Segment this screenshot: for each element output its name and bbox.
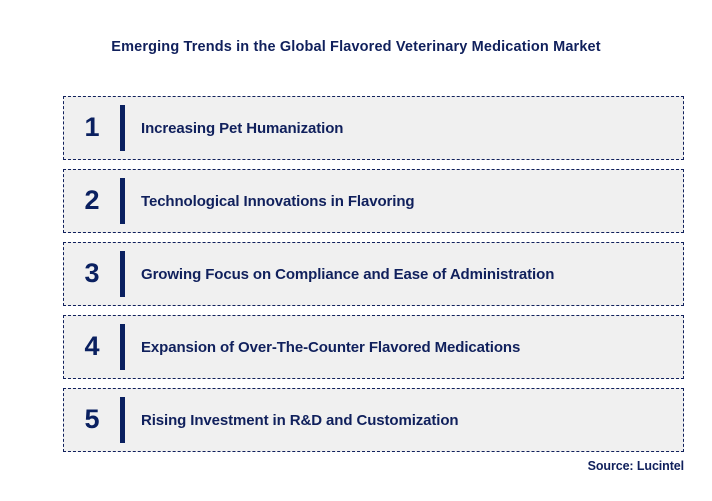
- trend-label: Rising Investment in R&D and Customizati…: [125, 412, 683, 429]
- trend-label: Technological Innovations in Flavoring: [125, 193, 683, 210]
- trend-item-2[interactable]: 2 Technological Innovations in Flavoring: [63, 169, 684, 233]
- trend-item-5[interactable]: 5 Rising Investment in R&D and Customiza…: [63, 388, 684, 452]
- trend-list: 1 Increasing Pet Humanization 2 Technolo…: [63, 96, 684, 452]
- trend-rank-number: 4: [64, 333, 120, 362]
- trend-label: Growing Focus on Compliance and Ease of …: [125, 266, 683, 283]
- page-title: Emerging Trends in the Global Flavored V…: [0, 39, 712, 55]
- trend-rank-number: 2: [64, 187, 120, 216]
- trend-rank-number: 3: [64, 260, 120, 289]
- source-attribution: Source: Lucintel: [588, 459, 684, 473]
- trend-label: Expansion of Over-The-Counter Flavored M…: [125, 339, 683, 356]
- trend-label: Increasing Pet Humanization: [125, 120, 683, 137]
- trend-item-1[interactable]: 1 Increasing Pet Humanization: [63, 96, 684, 160]
- trend-rank-number: 5: [64, 406, 120, 435]
- trend-rank-number: 1: [64, 114, 120, 143]
- trend-item-4[interactable]: 4 Expansion of Over-The-Counter Flavored…: [63, 315, 684, 379]
- diagram-canvas: Emerging Trends in the Global Flavored V…: [0, 0, 712, 501]
- trend-item-3[interactable]: 3 Growing Focus on Compliance and Ease o…: [63, 242, 684, 306]
